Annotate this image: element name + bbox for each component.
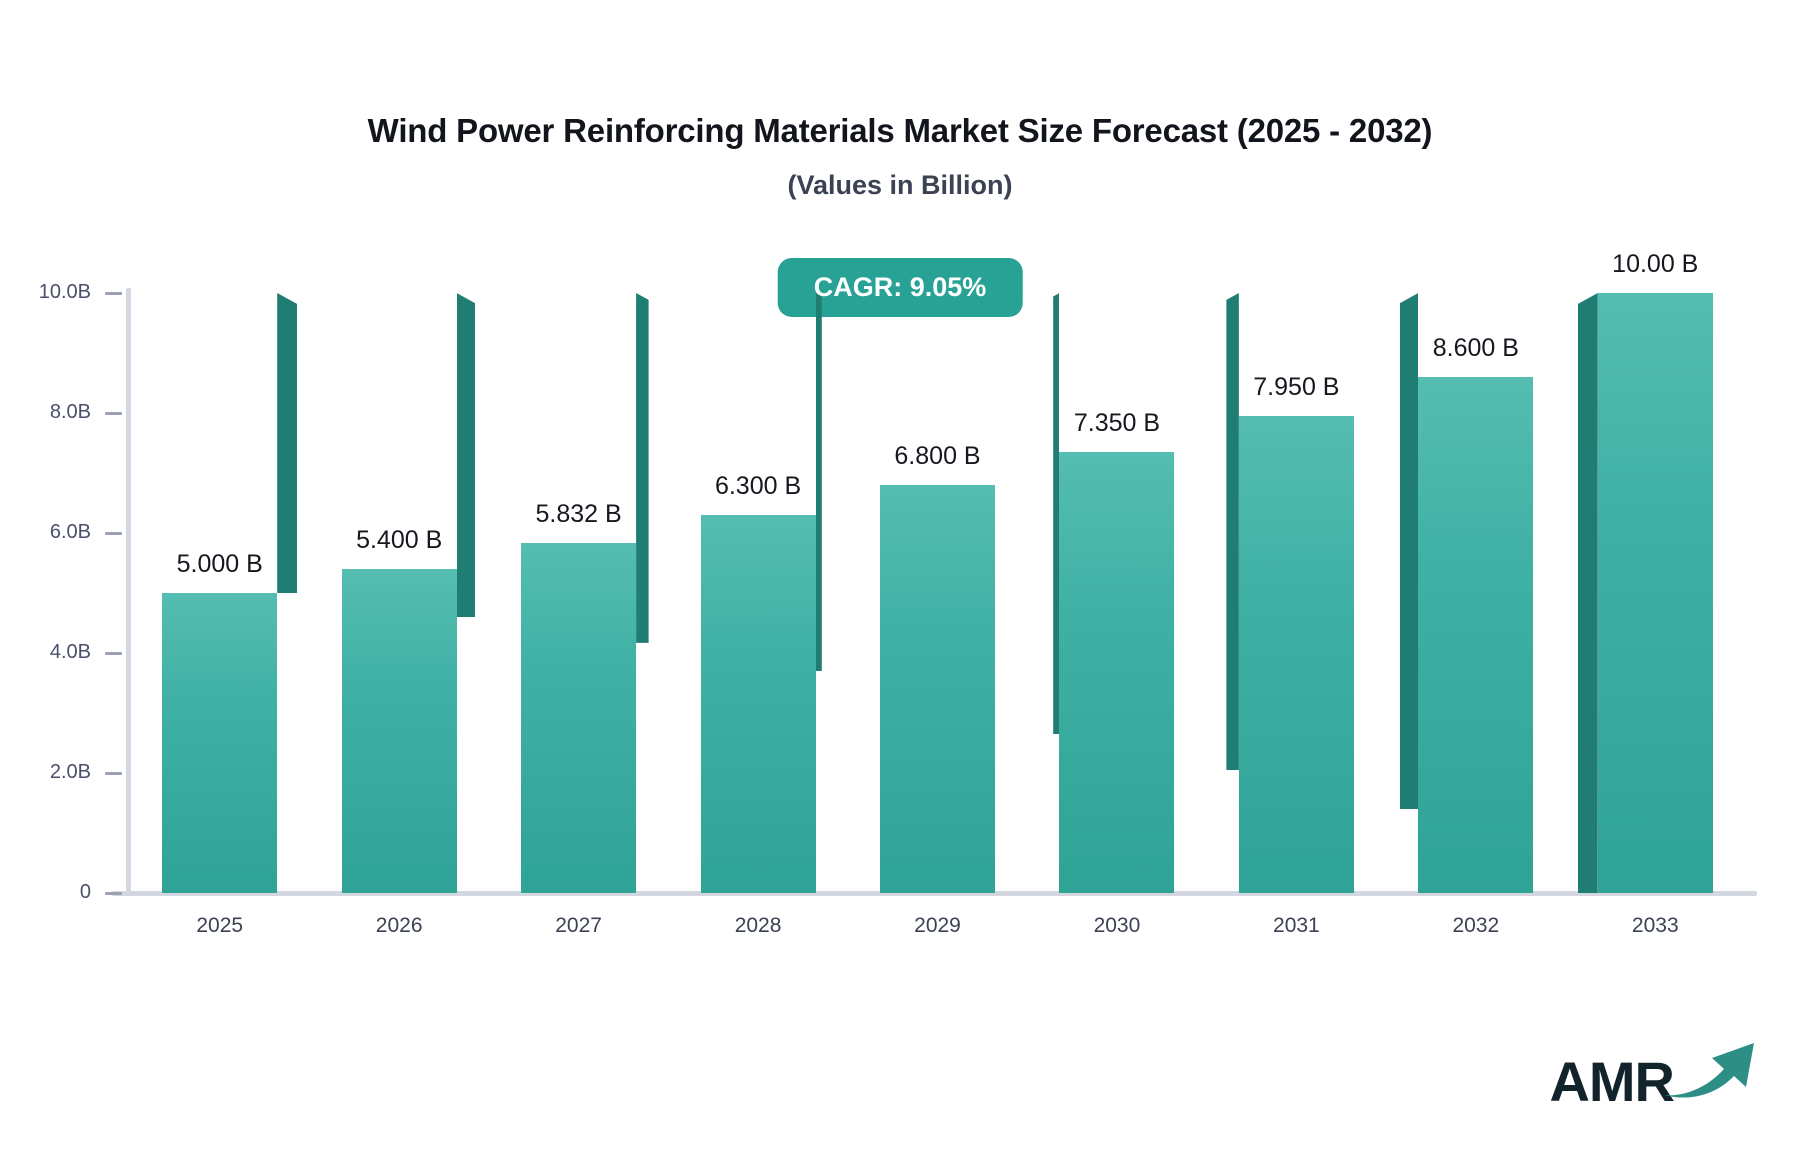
y-axis-tick-label: 2.0B xyxy=(50,762,91,782)
x-axis-tick-label: 2030 xyxy=(1094,915,1141,936)
bar-side-face xyxy=(636,293,649,643)
y-axis-tick-mark xyxy=(105,292,122,295)
bar-side-face xyxy=(277,293,297,593)
bar-value-label: 6.300 B xyxy=(715,474,801,499)
bar-column[interactable]: 5.400 B xyxy=(342,293,457,893)
bar-value-label: 5.000 B xyxy=(177,552,263,577)
chart-canvas: Wind Power Reinforcing Materials Market … xyxy=(0,0,1800,1156)
bar[interactable] xyxy=(1418,377,1533,893)
y-axis-tick-label: 4.0B xyxy=(50,642,91,662)
x-axis-tick-label: 2028 xyxy=(735,915,782,936)
bar-side-face xyxy=(1400,293,1419,809)
bar-column[interactable]: 7.950 B xyxy=(1239,293,1354,893)
bar-column[interactable]: 6.300 B xyxy=(701,293,816,893)
bar-column[interactable]: 5.000 B xyxy=(162,293,277,893)
bar-column[interactable]: 6.800 B xyxy=(880,293,995,893)
bar-value-label: 5.832 B xyxy=(536,502,622,527)
bar-side-face xyxy=(1226,293,1239,770)
bar-value-label: 7.350 B xyxy=(1074,411,1160,436)
x-axis-tick-label: 2031 xyxy=(1273,915,1320,936)
bar-side-face xyxy=(816,293,822,671)
bar[interactable] xyxy=(1059,452,1174,893)
bar[interactable] xyxy=(880,485,995,893)
bar[interactable] xyxy=(521,543,636,893)
amr-logo: AMR xyxy=(1549,1040,1758,1110)
bar-column[interactable]: 5.832 B xyxy=(521,293,636,893)
chart-subtitle: (Values in Billion) xyxy=(0,169,1800,203)
bar-value-label: 5.400 B xyxy=(356,528,442,553)
x-axis-tick-group: 202520262027202820292030203120322033 xyxy=(130,915,1745,955)
y-axis-tick-mark xyxy=(105,892,122,895)
bar-value-label: 7.950 B xyxy=(1253,375,1339,400)
y-axis-tick-label: 0 xyxy=(80,882,91,902)
y-axis-tick-label: 6.0B xyxy=(50,522,91,542)
x-axis-tick-label: 2032 xyxy=(1452,915,1499,936)
title-block: Wind Power Reinforcing Materials Market … xyxy=(0,110,1800,203)
bar-side-face xyxy=(457,293,476,617)
x-axis-tick-label: 2027 xyxy=(555,915,602,936)
x-axis-tick-label: 2025 xyxy=(196,915,243,936)
bar-value-label: 6.800 B xyxy=(894,444,980,469)
bar[interactable] xyxy=(342,569,457,893)
bar-column[interactable]: 10.00 B xyxy=(1598,293,1713,893)
x-axis-tick-label: 2029 xyxy=(914,915,961,936)
x-axis-tick-label: 2026 xyxy=(376,915,423,936)
y-axis-tick-mark xyxy=(105,772,122,775)
growth-arrow-icon xyxy=(1662,1037,1758,1106)
y-axis-tick-label: 8.0B xyxy=(50,402,91,422)
bar-side-face xyxy=(1578,293,1598,893)
bar[interactable] xyxy=(1598,293,1713,893)
amr-logo-text: AMR xyxy=(1549,1054,1674,1110)
y-axis-tick-mark xyxy=(105,532,122,535)
bar-column[interactable]: 7.350 B xyxy=(1059,293,1174,893)
bar[interactable] xyxy=(1239,416,1354,893)
page-title: Wind Power Reinforcing Materials Market … xyxy=(0,110,1800,151)
bar[interactable] xyxy=(162,593,277,893)
bar-value-label: 8.600 B xyxy=(1433,336,1519,361)
y-axis-tick-mark xyxy=(105,652,122,655)
bar-series: 5.000 B5.400 B5.832 B6.300 B6.800 B7.350… xyxy=(130,293,1745,893)
x-axis-tick-label: 2033 xyxy=(1632,915,1679,936)
y-axis-tick-label: 10.0B xyxy=(39,282,91,302)
bar-column[interactable]: 8.600 B xyxy=(1418,293,1533,893)
bar[interactable] xyxy=(701,515,816,893)
bar-value-label: 10.00 B xyxy=(1612,252,1698,277)
y-axis-tick-mark xyxy=(105,412,122,415)
